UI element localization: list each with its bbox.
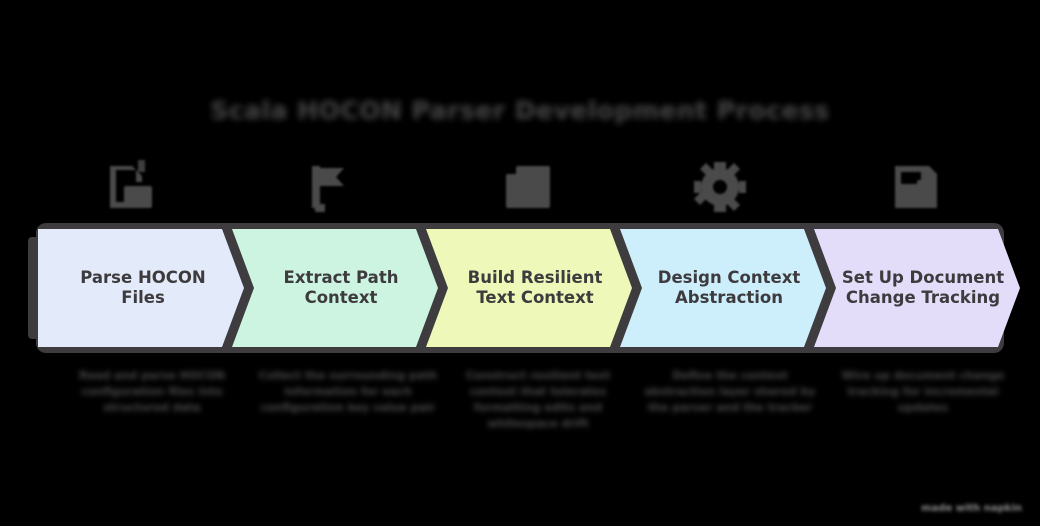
step-2-caption: Collect the surrounding path information… bbox=[258, 368, 438, 416]
stacked-documents-icon bbox=[502, 160, 558, 214]
save-disk-icon bbox=[887, 160, 943, 214]
step-5-icon-cell bbox=[875, 152, 955, 222]
process-step-3-label: Build Resilient Text Context bbox=[452, 268, 618, 309]
step-4-caption: Define the context abstraction layer sha… bbox=[640, 368, 820, 416]
step-5-caption: Wire up document change tracking for inc… bbox=[838, 368, 1008, 416]
process-step-4[interactable]: Design Context Abstraction bbox=[620, 229, 826, 347]
process-step-4-label: Design Context Abstraction bbox=[646, 268, 812, 309]
document-code-icon bbox=[102, 160, 158, 214]
process-chevron-row: Parse HOCON Files Extract Path Context B… bbox=[36, 223, 1004, 353]
watermark: made with napkin bbox=[921, 503, 1022, 514]
page-title: Scala HOCON Parser Development Process bbox=[210, 96, 829, 125]
gear-icon bbox=[692, 160, 748, 214]
step-3-icon-cell bbox=[490, 152, 570, 222]
step-1-caption: Read and parse HOCON configuration files… bbox=[62, 368, 242, 416]
diagram-title: Scala HOCON Parser Development Process bbox=[0, 96, 1040, 125]
step-1-icon-cell bbox=[90, 152, 170, 222]
flag-pointer-icon bbox=[302, 160, 358, 214]
step-4-icon-cell bbox=[680, 152, 760, 222]
process-step-3[interactable]: Build Resilient Text Context bbox=[426, 229, 632, 347]
process-step-5-label: Set Up Document Change Tracking bbox=[840, 268, 1006, 309]
process-step-1[interactable]: Parse HOCON Files bbox=[38, 229, 244, 347]
process-step-1-label: Parse HOCON Files bbox=[56, 268, 230, 309]
process-step-2[interactable]: Extract Path Context bbox=[232, 229, 438, 347]
step-3-caption: Construct resilient text context that to… bbox=[448, 368, 628, 432]
process-step-5[interactable]: Set Up Document Change Tracking bbox=[814, 229, 1020, 347]
step-2-icon-cell bbox=[290, 152, 370, 222]
process-step-2-label: Extract Path Context bbox=[258, 268, 424, 309]
caption-row: Read and parse HOCON configuration files… bbox=[0, 368, 1040, 458]
icon-row bbox=[0, 152, 1040, 222]
